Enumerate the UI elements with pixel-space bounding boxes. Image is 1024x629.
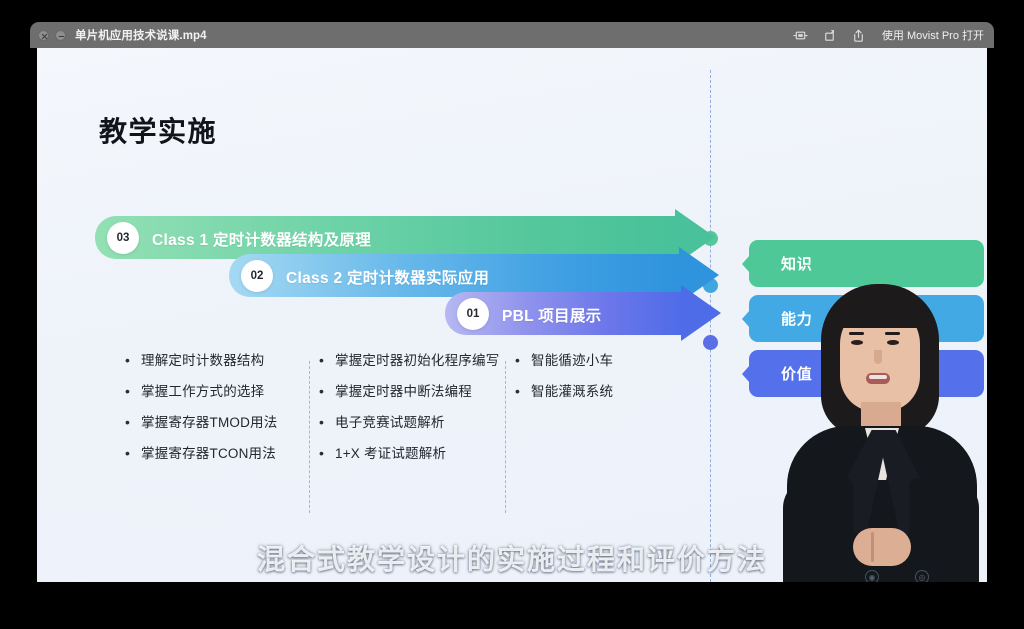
list-item-label: 智能循迹小车: [531, 351, 613, 371]
bullet-dot-icon: •: [319, 413, 335, 433]
bullet-dot-icon: •: [515, 382, 531, 402]
list-item: • 电子竞赛试题解析: [319, 413, 509, 433]
desktop-background: 单片机应用技术说课.mp4: [0, 0, 1024, 629]
markup-button[interactable]: [793, 28, 808, 43]
list-item: • 掌握定时器中断法编程: [319, 382, 509, 402]
presenter-hands: [853, 528, 911, 566]
arrow-number-badge: 03: [107, 222, 139, 254]
presenter-eyebrow: [885, 332, 900, 335]
list-item: • 掌握寄存器TMOD用法: [125, 413, 310, 433]
close-button[interactable]: [38, 30, 49, 41]
rotate-button[interactable]: [822, 28, 837, 43]
bullet-dot-icon: •: [125, 444, 141, 464]
bullet-dot-icon: •: [515, 351, 531, 371]
bullet-column-value: • 智能循迹小车 • 智能灌溉系统: [515, 351, 705, 413]
bullet-dot-icon: •: [319, 444, 335, 464]
list-item: • 智能循迹小车: [515, 351, 705, 371]
presenter-nose: [874, 350, 882, 364]
share-icon: [851, 28, 866, 43]
arrow-number-badge: 02: [241, 260, 273, 292]
close-icon: [39, 31, 50, 42]
list-item: • 1+X 考证试题解析: [319, 444, 509, 464]
bullet-dot-icon: •: [125, 382, 141, 402]
list-item-label: 掌握工作方式的选择: [141, 382, 264, 402]
share-button[interactable]: [851, 28, 866, 43]
bullet-dot-icon: •: [125, 351, 141, 371]
arrow-head: [681, 285, 721, 341]
presenter-eye: [887, 340, 899, 345]
list-item: • 智能灌溉系统: [515, 382, 705, 402]
list-item: • 掌握定时器初始化程序编写: [319, 351, 509, 371]
window-controls: [38, 30, 66, 41]
list-item: • 掌握工作方式的选择: [125, 382, 310, 402]
bullet-dot-icon: •: [125, 413, 141, 433]
presentation-slide: 教学实施 03 Class 1 定时计数器结构及原理 02: [37, 48, 987, 582]
list-item-label: 掌握定时器初始化程序编写: [335, 351, 499, 371]
list-item-label: 1+X 考证试题解析: [335, 444, 446, 464]
list-item: • 理解定时计数器结构: [125, 351, 310, 371]
arrow-label: Class 2 定时计数器实际应用: [286, 266, 489, 288]
open-with-label[interactable]: 使用 Movist Pro 打开: [882, 27, 984, 43]
presenter-arm: [783, 478, 853, 582]
bullet-dot-icon: •: [319, 351, 335, 371]
presenter-video-overlay: ◉ ◎: [773, 278, 987, 582]
presenter-eye: [851, 340, 863, 345]
watermark-icon: ◎: [915, 570, 929, 582]
presenter-eyebrow: [849, 332, 864, 335]
list-item-label: 掌握寄存器TCON用法: [141, 444, 276, 464]
arrow-label: Class 1 定时计数器结构及原理: [152, 228, 371, 250]
titlebar-actions: 使用 Movist Pro 打开: [793, 27, 984, 43]
list-item-label: 掌握寄存器TMOD用法: [141, 413, 277, 433]
presenter-mouth: [866, 373, 890, 384]
arrow-banner-class2: 02 Class 2 定时计数器实际应用: [229, 254, 719, 297]
window-titlebar: 单片机应用技术说课.mp4: [30, 22, 994, 48]
arrow-banner-pbl: 01 PBL 项目展示: [445, 292, 721, 335]
list-item: • 掌握寄存器TCON用法: [125, 444, 310, 464]
rotate-icon: [822, 28, 837, 43]
video-letterbox-right: [987, 48, 994, 585]
arrow-banner-class1: 03 Class 1 定时计数器结构及原理: [95, 216, 715, 259]
video-player-window: 单片机应用技术说课.mp4: [30, 22, 994, 585]
list-item-label: 掌握定时器中断法编程: [335, 382, 472, 402]
list-item-label: 理解定时计数器结构: [141, 351, 264, 371]
bullet-dot-icon: •: [319, 382, 335, 402]
list-item-label: 电子竞赛试题解析: [335, 413, 445, 433]
slide-title: 教学实施: [99, 110, 217, 150]
bullet-column-ability: • 掌握定时器初始化程序编写 • 掌握定时器中断法编程 • 电子竞赛试题解析 •…: [319, 351, 509, 475]
arrow-label: PBL 项目展示: [502, 304, 601, 326]
watermark-icon: ◉: [865, 570, 879, 582]
video-letterbox-left: [30, 48, 37, 585]
minimize-button[interactable]: [55, 30, 66, 41]
markup-icon: [793, 28, 808, 43]
outcome-label: 知识: [781, 253, 813, 274]
arrow-number-badge: 01: [457, 298, 489, 330]
presenter-bangs: [833, 292, 927, 328]
list-item-label: 智能灌溉系统: [531, 382, 613, 402]
presenter-arm: [909, 478, 979, 582]
video-stage[interactable]: 教学实施 03 Class 1 定时计数器结构及原理 02: [30, 48, 994, 585]
minimize-icon: [56, 31, 67, 42]
bullet-column-knowledge: • 理解定时计数器结构 • 掌握工作方式的选择 • 掌握寄存器TMOD用法 • …: [125, 351, 310, 475]
window-title: 单片机应用技术说课.mp4: [75, 27, 207, 43]
